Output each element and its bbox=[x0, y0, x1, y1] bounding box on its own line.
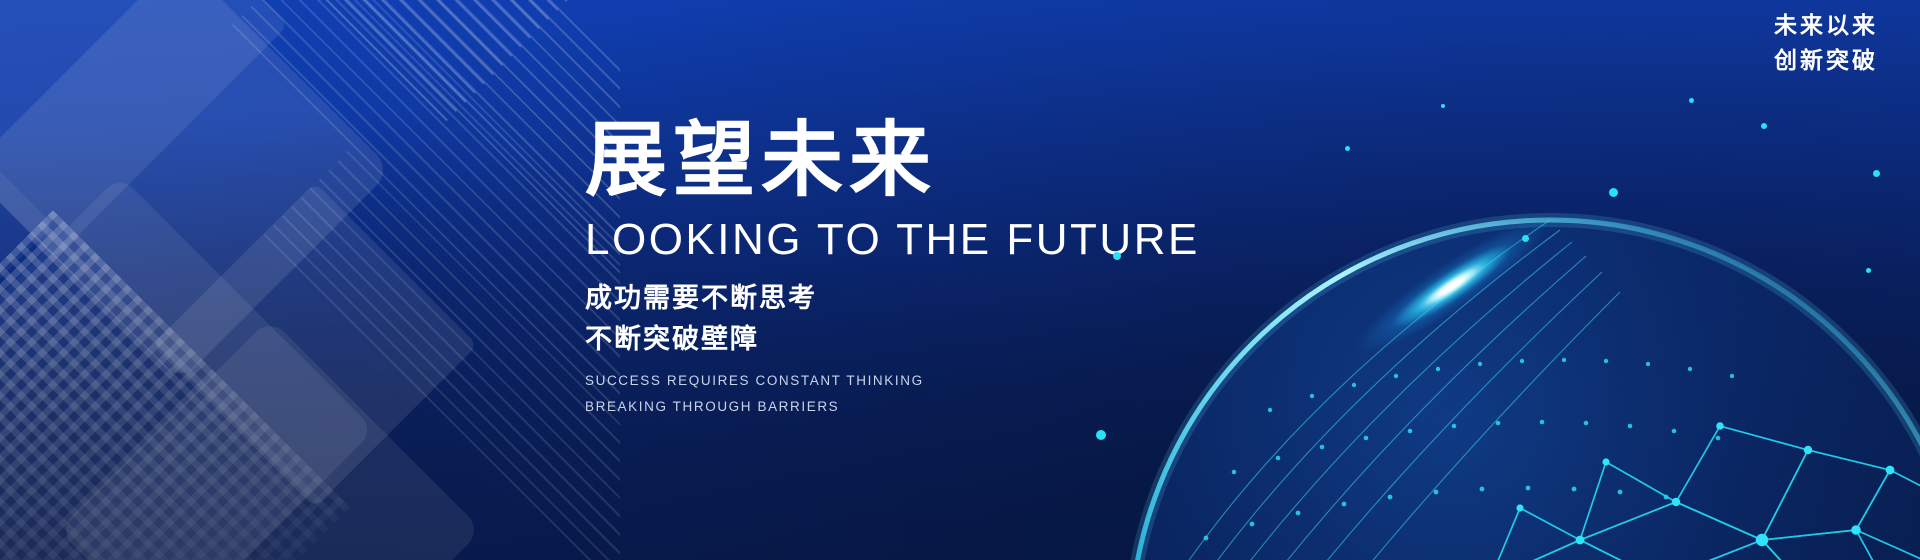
spark-dot-4 bbox=[1689, 98, 1694, 103]
subtitle-english-2: BREAKING THROUGH BARRIERS bbox=[585, 395, 1285, 419]
headline-block: 展望未来 LOOKING TO THE FUTURE 成功需要不断思考 不断突破… bbox=[585, 118, 1285, 419]
spark-dot-9 bbox=[1866, 268, 1871, 273]
subtitle-chinese-1: 成功需要不断思考 bbox=[585, 279, 1285, 318]
corner-slogan: 未来以来 创新突破 bbox=[1774, 8, 1878, 77]
banner-root: 展望未来 LOOKING TO THE FUTURE 成功需要不断思考 不断突破… bbox=[0, 0, 1920, 560]
rim-light-core bbox=[1422, 263, 1482, 310]
spark-dot-1 bbox=[1609, 188, 1618, 197]
subtitle-english-1: SUCCESS REQUIRES CONSTANT THINKING bbox=[585, 369, 1285, 393]
globe-mesh-nodes bbox=[1266, 422, 1920, 560]
spark-dot-10 bbox=[1441, 104, 1445, 108]
spark-dot-2 bbox=[1522, 235, 1529, 242]
rim-light-flare bbox=[1344, 203, 1560, 370]
spark-dot-8 bbox=[1873, 170, 1880, 177]
title-chinese: 展望未来 bbox=[585, 118, 1285, 204]
spark-dot-7 bbox=[1096, 430, 1106, 440]
corner-slogan-line-2: 创新突破 bbox=[1774, 43, 1878, 78]
globe-mesh-lines bbox=[1270, 426, 1920, 560]
spark-dot-6 bbox=[1345, 146, 1350, 151]
spark-dot-5 bbox=[1113, 252, 1121, 260]
corner-slogan-line-1: 未来以来 bbox=[1774, 8, 1878, 43]
spark-dot-3 bbox=[1761, 123, 1767, 129]
title-english: LOOKING TO THE FUTURE bbox=[585, 212, 1285, 267]
subtitle-chinese-2: 不断突破壁障 bbox=[585, 320, 1285, 359]
left-decorative-pattern bbox=[0, 0, 620, 560]
